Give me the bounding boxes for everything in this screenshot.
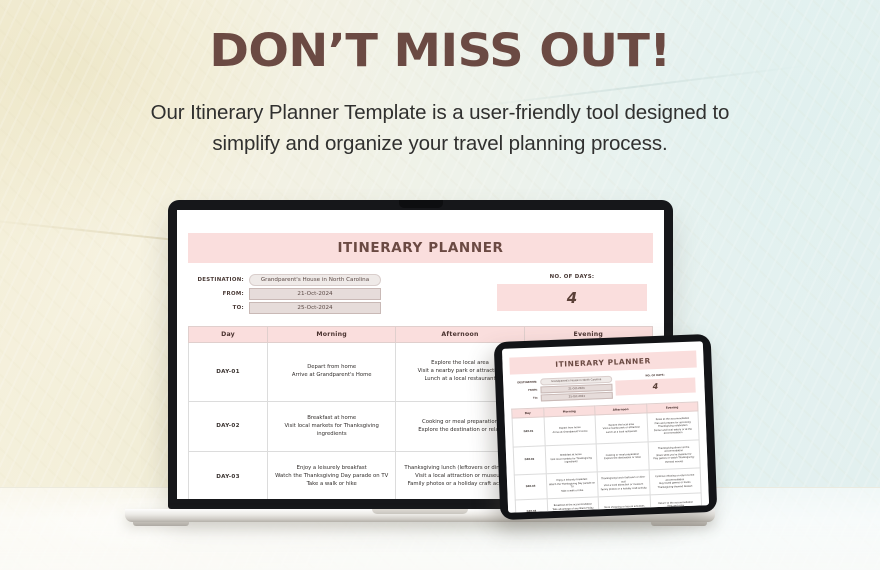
cell-line: Play games or watch Thanksgiving-themed … (650, 456, 699, 465)
laptop-base-notch (372, 509, 468, 514)
days-group-tablet: NO. OF DAYS: 4 (615, 373, 696, 396)
cell-line: Take a walk or hike (548, 488, 597, 493)
cell-line: Take a walk or hike (271, 481, 392, 489)
cell-morning[interactable]: Breakfast at homeVisit local markets for… (268, 401, 396, 452)
cell-day[interactable]: DAY-04 (515, 499, 548, 513)
to-input-tablet[interactable]: 25-Oct-2024 (541, 392, 613, 402)
cell-afternoon[interactable]: More shopping or leisure activitiesTry l… (598, 495, 650, 513)
sheet-title-tablet: ITINERARY PLANNER (509, 350, 697, 374)
page-subtitle: Our Itinerary Planner Template is a user… (130, 97, 750, 159)
sheet-meta-row: DESTINATION: Grandparent's House in Nort… (188, 274, 653, 314)
from-row: FROM: 21-Oct-2024 (188, 288, 381, 300)
destination-input[interactable]: Grandparent's House in North Carolina (249, 274, 381, 286)
cell-line: Thanksgiving-themed dessert (651, 484, 700, 489)
cell-afternoon[interactable]: Thanksgiving lunch (leftovers or dine-ou… (597, 470, 649, 497)
sheet-meta-left-tablet: DESTINATION: Grandparent's House in Nort… (510, 376, 613, 403)
cell-line: Arrive at Grandparent's Home (271, 372, 392, 380)
days-value-tablet[interactable]: 4 (615, 378, 696, 396)
itinerary-sheet-tablet: ITINERARY PLANNER DESTINATION: Grandpare… (502, 350, 709, 513)
sheet-meta-row-tablet: DESTINATION: Grandparent's House in Nort… (510, 372, 698, 402)
cell-line: Enjoy a leisurely breakfast (271, 465, 392, 473)
cell-line: Depart from home (271, 364, 392, 372)
cell-line: Breakfast at home (271, 415, 392, 423)
tablet-frame: ITINERARY PLANNER DESTINATION: Grandpare… (494, 334, 718, 520)
days-group: NO. OF DAYS: 4 (497, 274, 647, 311)
laptop-foot-right (651, 522, 707, 526)
to-label-tablet: TO: (511, 397, 538, 401)
cell-day[interactable]: DAY-01 (189, 343, 268, 402)
cell-evening[interactable]: Relax at the accommodationPlan and prepa… (647, 411, 700, 442)
cell-afternoon[interactable]: Cooking or meal preparationExplore the d… (596, 441, 648, 472)
cell-evening[interactable]: Continue relaxing or return to the accom… (649, 468, 701, 495)
cell-morning[interactable]: Depart from homeArrive at Grandparent's … (544, 415, 596, 446)
to-row: TO: 25-Oct-2024 (188, 302, 381, 314)
cell-morning[interactable]: Breakfast at the accommodationTake advan… (547, 497, 599, 513)
cell-line: Plan for the next day's activities (652, 507, 701, 512)
cell-line: More shopping or leisure activities (600, 504, 649, 509)
days-label: NO. OF DAYS: (497, 274, 647, 280)
cell-evening[interactable]: Thanksgiving dinner at the accommodation… (648, 439, 701, 470)
cell-morning[interactable]: Depart from homeArrive at Grandparent's … (268, 343, 396, 402)
cell-morning[interactable]: Breakfast at homeVisit local markets for… (545, 443, 597, 474)
tablet-screen: ITINERARY PLANNER DESTINATION: Grandpare… (502, 341, 709, 513)
column-header-morning: Morning (268, 327, 396, 343)
cell-day[interactable]: DAY-01 (512, 417, 545, 447)
cell-line: Visit local markets for Thanksgiving ing… (271, 423, 392, 439)
cell-line: Watch the Thanksgiving Day parade on TV (271, 473, 392, 481)
sheet-meta-left: DESTINATION: Grandparent's House in Nort… (188, 274, 381, 314)
itinerary-table-tablet: DayMorningAfternoonEvening DAY-01Depart … (511, 401, 703, 512)
from-label: FROM: (188, 291, 244, 297)
cell-afternoon[interactable]: Explore the local areaVisit a nearby par… (595, 413, 647, 444)
cell-line: Explore the destination or relax (598, 456, 647, 461)
days-value[interactable]: 4 (497, 284, 647, 311)
cell-line: Take advantage of any Black Friday shopp… (549, 506, 598, 513)
cell-day[interactable]: DAY-02 (189, 401, 268, 452)
to-input[interactable]: 25-Oct-2024 (249, 302, 381, 314)
laptop-foot-left (133, 522, 189, 526)
destination-label-tablet: DESTINATION: (510, 381, 537, 385)
cell-day[interactable]: DAY-02 (513, 445, 546, 475)
cell-line: Visit local markets for Thanksgiving ing… (547, 456, 596, 465)
cell-line: Arrive at Grandparent's Home (546, 429, 595, 434)
sheet-title: ITINERARY PLANNER (188, 233, 653, 263)
to-label: TO: (188, 305, 244, 311)
from-input[interactable]: 21-Oct-2024 (249, 288, 381, 300)
table-body-tablet: DAY-01Depart from homeArrive at Grandpar… (512, 411, 703, 513)
cell-day[interactable]: DAY-03 (514, 474, 547, 500)
tablet-mockup: ITINERARY PLANNER DESTINATION: Grandpare… (494, 334, 718, 520)
cell-morning[interactable]: Enjoy a leisurely breakfastWatch the Tha… (546, 472, 598, 499)
destination-label: DESTINATION: (188, 277, 244, 283)
cell-evening[interactable]: Return to the accommodationRest and rela… (650, 493, 702, 513)
from-label-tablet: FROM: (510, 389, 537, 393)
cell-morning[interactable]: Enjoy a leisurely breakfastWatch the Tha… (268, 452, 396, 499)
column-header-day: Day (189, 327, 268, 343)
cell-day[interactable]: DAY-03 (189, 452, 268, 499)
cell-line: Dinner and local eatery or at the accomm… (649, 427, 698, 436)
page-title: DON’T MISS OUT! (0, 28, 880, 74)
column-header-afternoon: Afternoon (396, 327, 524, 343)
laptop-camera-notch (399, 200, 443, 208)
destination-row: DESTINATION: Grandparent's House in Nort… (188, 274, 381, 286)
